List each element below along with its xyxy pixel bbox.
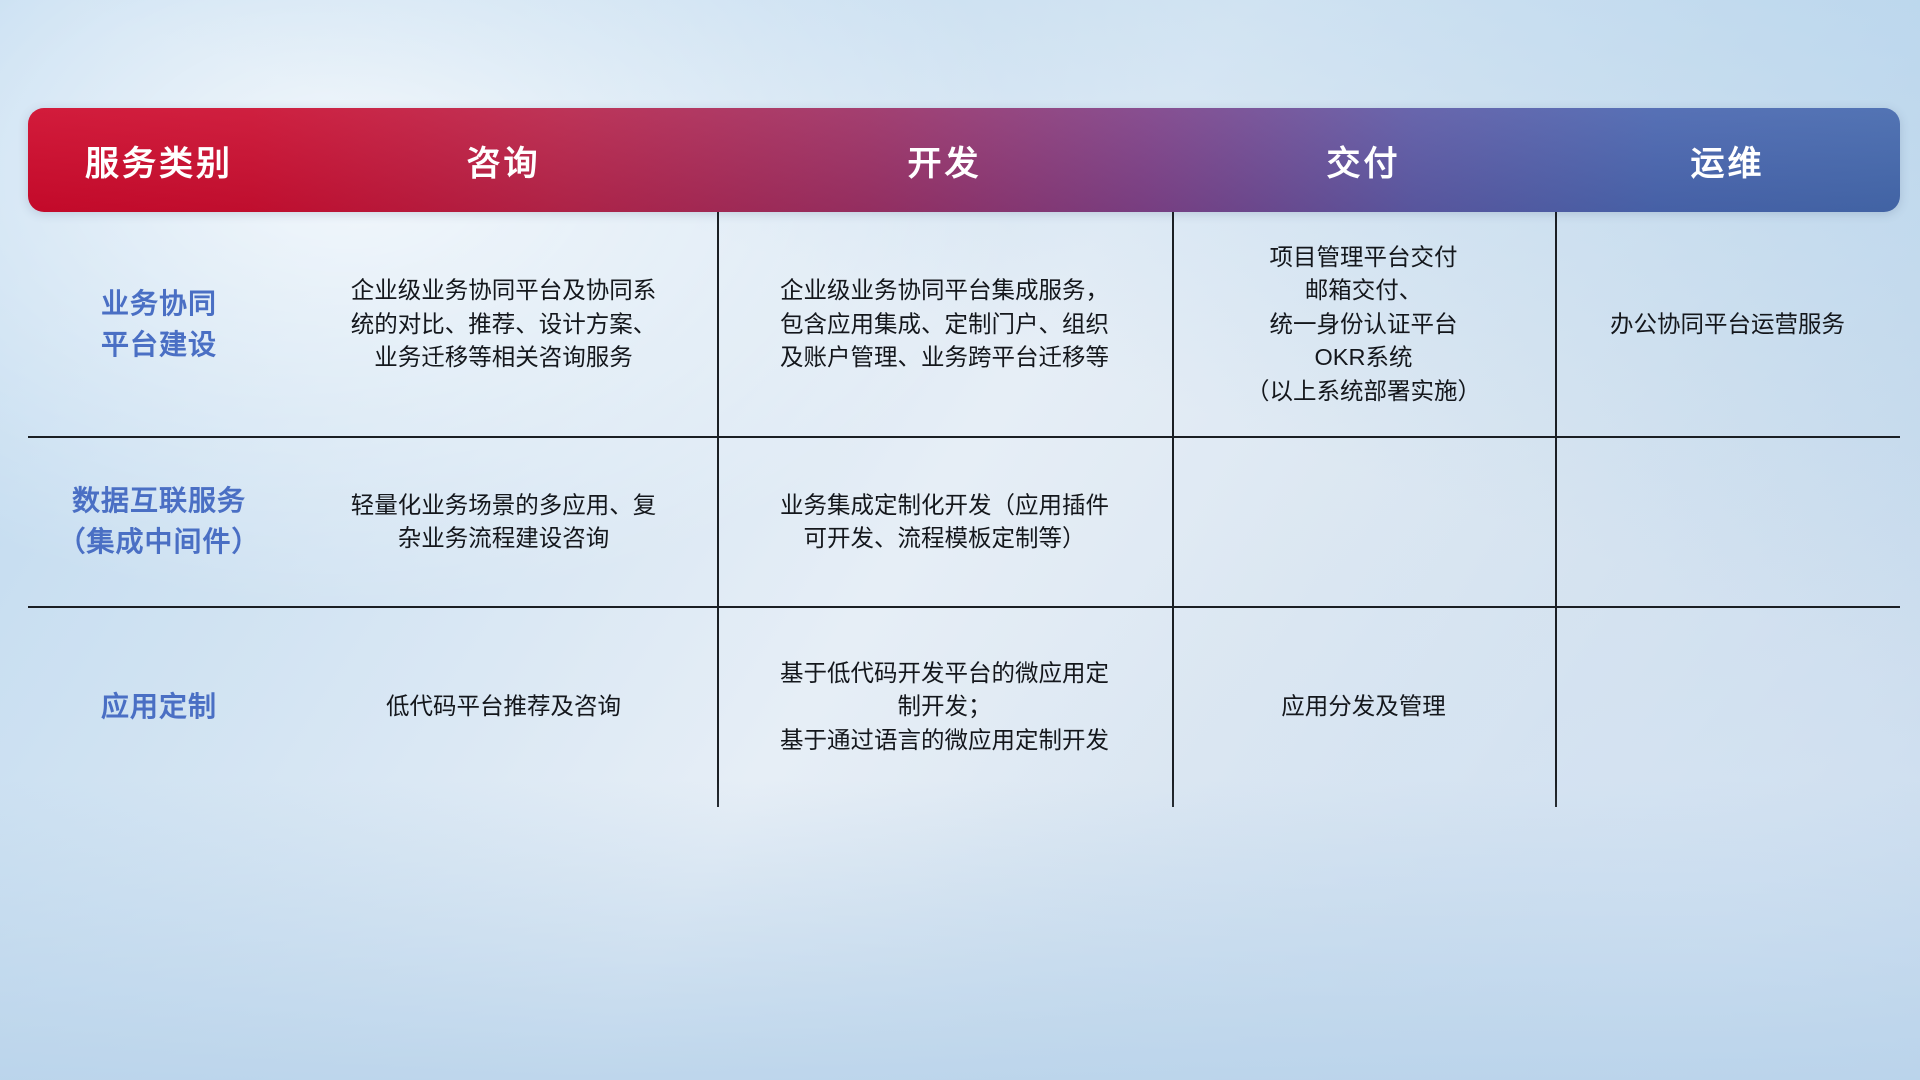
column-header-consulting-label: 咨询 [467, 136, 541, 185]
row-consulting-cell: 企业级业务协同平台及协同系 统的对比、推荐、设计方案、 业务迁移等相关咨询服务 [290, 212, 717, 437]
column-header-delivery: 交付 [1172, 108, 1555, 212]
table-body: 业务协同 平台建设 企业级业务协同平台及协同系 统的对比、推荐、设计方案、 业务… [28, 212, 1900, 807]
column-header-category: 服务类别 [28, 108, 290, 212]
table-row: 业务协同 平台建设 企业级业务协同平台及协同系 统的对比、推荐、设计方案、 业务… [28, 212, 1900, 437]
row-category-cell: 业务协同 平台建设 [28, 212, 290, 437]
row-category-cell: 数据互联服务 （集成中间件） [28, 437, 290, 607]
column-header-delivery-label: 交付 [1327, 136, 1401, 185]
column-header-operations: 运维 [1555, 108, 1900, 212]
column-header-category-label: 服务类别 [85, 136, 233, 185]
table-header-row: 服务类别 咨询 开发 交付 运维 [28, 108, 1900, 212]
column-header-operations-label: 运维 [1691, 136, 1765, 185]
row-consulting-cell: 轻量化业务场景的多应用、复 杂业务流程建设咨询 [290, 437, 717, 607]
row-delivery-cell [1172, 437, 1555, 607]
row-operations-cell: 办公协同平台运营服务 [1555, 212, 1900, 437]
row-consulting-cell: 低代码平台推荐及咨询 [290, 607, 717, 807]
row-category-cell: 应用定制 [28, 607, 290, 807]
row-delivery-cell: 应用分发及管理 [1172, 607, 1555, 807]
table-row: 应用定制 低代码平台推荐及咨询 基于低代码开发平台的微应用定 制开发； 基于通过… [28, 607, 1900, 807]
column-header-development-label: 开发 [908, 136, 982, 185]
row-delivery-cell: 项目管理平台交付 邮箱交付、 统一身份认证平台 OKR系统 （以上系统部署实施） [1172, 212, 1555, 437]
row-development-cell: 业务集成定制化开发（应用插件 可开发、流程模板定制等） [717, 437, 1172, 607]
page-background: 服务类别 咨询 开发 交付 运维 业务协同 平台建设 企业 [0, 0, 1920, 1080]
row-operations-cell [1555, 607, 1900, 807]
row-development-cell: 基于低代码开发平台的微应用定 制开发； 基于通过语言的微应用定制开发 [717, 607, 1172, 807]
column-header-consulting: 咨询 [290, 108, 717, 212]
row-development-cell: 企业级业务协同平台集成服务， 包含应用集成、定制门户、组织 及账户管理、业务跨平… [717, 212, 1172, 437]
row-operations-cell [1555, 437, 1900, 607]
service-matrix-table: 服务类别 咨询 开发 交付 运维 业务协同 平台建设 企业 [28, 108, 1900, 778]
column-header-development: 开发 [717, 108, 1172, 212]
table-row: 数据互联服务 （集成中间件） 轻量化业务场景的多应用、复 杂业务流程建设咨询 业… [28, 437, 1900, 607]
